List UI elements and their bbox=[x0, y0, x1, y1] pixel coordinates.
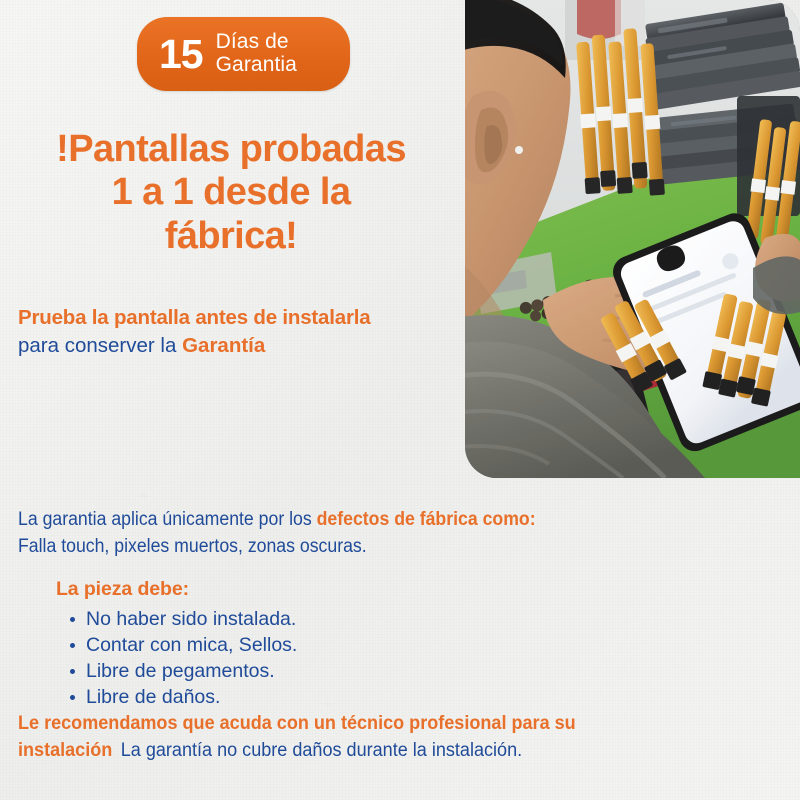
requirements-title: La pieza debe: bbox=[56, 578, 476, 601]
list-item: Libre de pegamentos. bbox=[70, 659, 476, 685]
installation-recommendation: Le recomendamos que acuda con un técnico… bbox=[18, 712, 788, 763]
headline-line-3: fábrica! bbox=[0, 215, 462, 258]
warranty-scope-line-2: Falla touch, pixeles muertos, zonas oscu… bbox=[18, 535, 732, 559]
badge-label-line2: Garantia bbox=[216, 53, 297, 76]
warranty-scope-highlight: defectos de fábrica como: bbox=[317, 509, 536, 530]
warranty-scope-line-1: La garantia aplica únicamente por los de… bbox=[18, 508, 732, 532]
infographic-page: 15 Días de Garantia !Pantallas probadas … bbox=[0, 0, 800, 800]
technician-photo-illustration: A03s bbox=[465, 0, 800, 478]
warranty-scope-plain: La garantia aplica únicamente por los bbox=[18, 509, 317, 530]
warranty-scope-text: La garantia aplica únicamente por los de… bbox=[18, 508, 786, 560]
subheading-warranty-word: Garantía bbox=[182, 334, 265, 357]
list-item: Contar con mica, Sellos. bbox=[70, 633, 476, 659]
recommendation-bold-word: instalación bbox=[18, 740, 112, 761]
badge-number: 15 bbox=[159, 34, 203, 75]
warranty-days-badge: 15 Días de Garantia bbox=[137, 17, 350, 91]
list-item: Libre de daños. bbox=[70, 685, 476, 711]
subheading: Prueba la pantalla antes de instalarla p… bbox=[18, 305, 466, 358]
badge-label-line1: Días de bbox=[216, 30, 289, 53]
subheading-line-2: para conserver la Garantía bbox=[18, 333, 466, 359]
headline-line-2: 1 a 1 desde la bbox=[0, 171, 462, 214]
subheading-line-2-plain: para conserver la bbox=[18, 334, 182, 357]
subheading-line-1: Prueba la pantalla antes de instalarla bbox=[18, 305, 466, 331]
headline: !Pantallas probadas 1 a 1 desde la fábri… bbox=[0, 128, 462, 258]
technician-photo: A03s bbox=[465, 0, 800, 478]
requirements-list: No haber sido instalada. Contar con mica… bbox=[56, 607, 476, 711]
recommendation-disclaimer: La garantía no cubre daños durante la in… bbox=[121, 740, 522, 761]
list-item: No haber sido instalada. bbox=[70, 607, 476, 633]
headline-line-1: !Pantallas probadas bbox=[0, 128, 462, 171]
recommendation-line-2: instalación La garantía no cubre daños d… bbox=[18, 739, 750, 764]
recommendation-line-1: Le recomendamos que acuda con un técnico… bbox=[18, 712, 750, 737]
badge-label: Días de Garantia bbox=[216, 31, 297, 76]
requirements-block: La pieza debe: No haber sido instalada. … bbox=[56, 578, 476, 711]
